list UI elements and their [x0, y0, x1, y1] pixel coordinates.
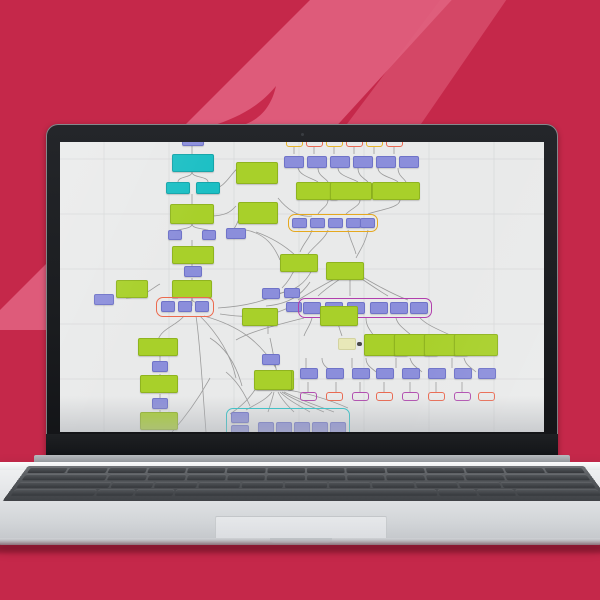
node-label: •••••••••• [175, 283, 209, 285]
node-purple[interactable] [326, 368, 344, 379]
node-green[interactable]: •••••••••••• [170, 204, 214, 224]
laptop-screen[interactable]: •••••••••••• •••••••• •••••••• •••••••••… [60, 142, 544, 432]
node-green[interactable]: •••••••• [254, 370, 292, 390]
node-purple[interactable] [276, 422, 292, 432]
key[interactable] [27, 468, 68, 473]
chip-red[interactable] [376, 392, 393, 401]
laptop-keyboard[interactable] [2, 466, 600, 501]
node-purple[interactable] [346, 218, 361, 228]
key[interactable] [386, 468, 425, 473]
node-purple[interactable] [231, 412, 249, 423]
key[interactable] [267, 475, 305, 481]
node-green[interactable]: •••••••••• [172, 280, 212, 298]
key[interactable] [285, 482, 327, 488]
key[interactable] [372, 482, 415, 488]
chip-red[interactable] [478, 392, 495, 401]
node-green[interactable]: •••••••••••• [454, 334, 498, 356]
whiteboard-canvas[interactable]: •••••••••••• •••••••• •••••••• •••••••••… [60, 142, 544, 432]
chip-red[interactable] [326, 392, 343, 401]
chip-red[interactable] [428, 392, 445, 401]
node-purple[interactable] [152, 361, 168, 372]
screenshot-stage: •••••••••••• •••••••• •••••••• •••••••••… [0, 0, 600, 600]
node-purple[interactable] [262, 354, 280, 365]
node-purple[interactable] [182, 142, 204, 146]
node-purple[interactable] [330, 156, 350, 168]
key[interactable] [425, 475, 465, 481]
node-purple[interactable] [168, 230, 182, 240]
node-purple[interactable] [284, 156, 304, 168]
keyboard-row[interactable] [18, 475, 595, 481]
chip-yellow[interactable] [326, 142, 343, 147]
node-purple[interactable] [352, 368, 370, 379]
key[interactable] [307, 468, 345, 473]
key-shift-right[interactable] [516, 490, 600, 496]
key[interactable] [67, 468, 108, 473]
key[interactable] [107, 468, 147, 473]
node-teal-start[interactable]: •••••••••••• [172, 154, 214, 172]
node-purple[interactable] [399, 156, 419, 168]
key[interactable] [227, 475, 265, 481]
laptop-lid: •••••••••••• •••••••• •••••••• •••••••••… [46, 124, 558, 462]
node-arrow-marker [357, 342, 362, 346]
key-shift[interactable] [11, 490, 97, 496]
node-label: •••••••••••• [457, 337, 495, 339]
chip-red[interactable] [346, 142, 363, 147]
node-label: •••••••• [245, 311, 275, 313]
key[interactable] [438, 490, 478, 496]
node-label: •••••••• [119, 283, 145, 285]
keyboard-row[interactable] [12, 482, 600, 488]
key[interactable] [465, 468, 505, 473]
node-green[interactable]: •••••••••••• [236, 162, 278, 184]
key[interactable] [386, 475, 425, 481]
node-green[interactable]: •••••••• [140, 375, 178, 393]
node-label: •••••••• [169, 185, 187, 187]
key[interactable] [147, 475, 187, 481]
node-green[interactable]: •••••••••••• [140, 412, 178, 430]
chip-yellow[interactable] [366, 142, 383, 147]
keyboard-row[interactable] [23, 468, 589, 473]
node-label: •••••••• [257, 373, 289, 375]
node-green[interactable]: •••••••• [116, 280, 148, 298]
chip-magenta[interactable] [352, 392, 369, 401]
key-return[interactable] [501, 482, 596, 488]
key[interactable] [154, 482, 197, 488]
node-purple[interactable] [454, 368, 472, 379]
chip-red[interactable] [306, 142, 323, 147]
key[interactable] [346, 468, 385, 473]
node-purple[interactable] [262, 288, 280, 299]
node-green[interactable]: •••••••• [242, 308, 278, 326]
node-purple[interactable] [376, 156, 396, 168]
key[interactable] [198, 482, 241, 488]
node-label: •••••••••••• [175, 249, 211, 251]
key[interactable] [458, 482, 502, 488]
node-purple[interactable] [94, 294, 114, 305]
node-label: •••••••••••• [241, 205, 275, 207]
node-purple[interactable] [284, 288, 300, 298]
node-purple[interactable] [310, 218, 325, 228]
node-label: •••••••••••• [141, 341, 175, 343]
node-green[interactable]: •••••••••••• [138, 338, 178, 356]
node-purple[interactable] [300, 368, 318, 379]
webcam-icon [301, 133, 304, 136]
node-purple[interactable] [184, 266, 202, 277]
node-purple[interactable] [202, 230, 216, 240]
node-label: •••••••• [323, 309, 355, 311]
node-green[interactable]: •••••••••• [280, 254, 318, 272]
node-label: •••••••••• [283, 257, 315, 259]
key[interactable] [135, 490, 175, 496]
node-teal[interactable]: •••••••• [166, 182, 190, 194]
laptop-device: •••••••••••• •••••••• •••••••• •••••••••… [0, 0, 600, 600]
node-purple[interactable] [303, 302, 321, 314]
node-purple[interactable] [226, 228, 246, 239]
chip-red[interactable] [386, 142, 403, 147]
node-label: •••••••••••• [333, 185, 369, 187]
key[interactable] [307, 475, 345, 481]
key[interactable] [465, 475, 505, 481]
node-purple[interactable] [178, 301, 192, 312]
node-purple[interactable] [231, 425, 249, 432]
node-purple[interactable] [360, 218, 375, 228]
key[interactable] [346, 475, 384, 481]
node-purple[interactable] [294, 422, 310, 432]
key-delete[interactable] [504, 475, 590, 481]
node-label: •••••••••••• [143, 415, 175, 417]
key[interactable] [544, 468, 585, 473]
node-purple[interactable] [258, 422, 274, 432]
node-purple[interactable] [161, 301, 175, 312]
chip-magenta[interactable] [454, 392, 471, 401]
key[interactable] [107, 475, 147, 481]
node-label: •••••••••• [329, 265, 361, 267]
node-purple[interactable] [390, 302, 408, 314]
key[interactable] [267, 468, 305, 473]
node-green[interactable]: •••••••••••• [330, 182, 372, 200]
chip-yellow[interactable] [286, 142, 303, 147]
node-purple[interactable] [410, 302, 428, 314]
laptop-drop-shadow [0, 543, 600, 553]
key-space[interactable] [175, 490, 438, 496]
key[interactable] [187, 475, 226, 481]
key[interactable] [227, 468, 266, 473]
node-teal[interactable]: •••••••• [196, 182, 220, 194]
node-purple[interactable] [402, 368, 420, 379]
node-label: •••••••••••• [239, 165, 275, 167]
node-green[interactable]: •••••••••••• [172, 246, 214, 264]
node-purple[interactable] [478, 368, 496, 379]
node-label: •••••••••••• [175, 157, 211, 159]
node-purple[interactable] [428, 368, 446, 379]
node-label: •••••••••••• [375, 185, 417, 187]
key[interactable] [110, 482, 154, 488]
node-purple[interactable] [353, 156, 373, 168]
node-purple[interactable] [152, 398, 168, 409]
node-label: •••••••• [199, 185, 217, 187]
node-purple[interactable] [312, 422, 328, 432]
key-caps[interactable] [16, 482, 111, 488]
node-purple[interactable] [370, 302, 388, 314]
key[interactable] [504, 468, 545, 473]
node-label: •••••••••••• [173, 207, 211, 209]
key[interactable] [147, 468, 187, 473]
node-purple[interactable] [376, 368, 394, 379]
chip-magenta[interactable] [402, 392, 419, 401]
node-purple[interactable] [195, 301, 209, 312]
node-green[interactable]: •••••••• [320, 306, 358, 326]
node-purple[interactable] [328, 218, 343, 228]
key[interactable] [425, 468, 465, 473]
node-purple[interactable] [330, 422, 346, 432]
node-label: •••••••• [143, 378, 175, 380]
key[interactable] [241, 482, 283, 488]
node-cream[interactable] [338, 338, 356, 350]
node-purple[interactable] [292, 218, 307, 228]
chip-magenta[interactable] [300, 392, 317, 401]
key[interactable] [415, 482, 458, 488]
node-purple[interactable] [307, 156, 327, 168]
key-tab[interactable] [22, 475, 108, 481]
key[interactable] [477, 490, 517, 496]
node-green[interactable]: •••••••••••• [238, 202, 278, 224]
node-green[interactable]: •••••••••••• [372, 182, 420, 200]
keyboard-row[interactable] [6, 490, 600, 496]
key[interactable] [187, 468, 226, 473]
node-green[interactable]: •••••••••• [326, 262, 364, 280]
key[interactable] [95, 490, 135, 496]
key[interactable] [329, 482, 371, 488]
